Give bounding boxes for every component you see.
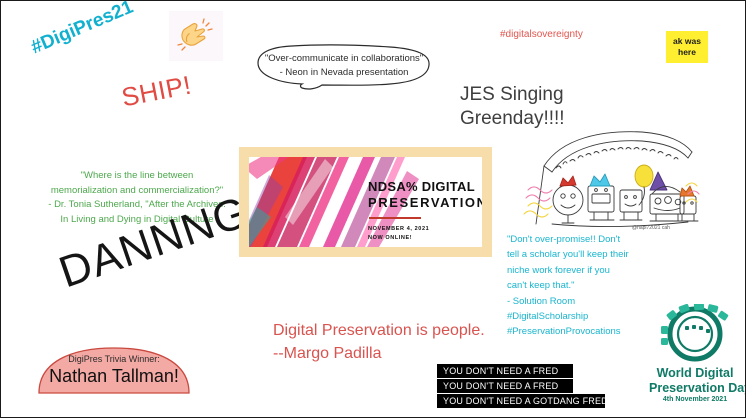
poster-date-line2: NOW ONLINE!	[368, 234, 482, 243]
sticky-text-hashtag-digipres[interactable]: #DigiPres21	[28, 0, 137, 59]
trivia-winner-name: Nathan Tallman!	[35, 366, 193, 387]
poster-text-block: NDSA% DIGITAL PRESERVATION NOVEMBER 4, 2…	[368, 179, 482, 243]
teal-quote-line7: #PreservationProvocations	[507, 324, 637, 339]
wdpd-title: World Digital Preservation Day	[649, 366, 741, 396]
jes-line2: Greenday!!!!	[460, 107, 565, 131]
teal-quote-line3: niche work forever if you	[507, 263, 637, 278]
poster-divider-rule	[369, 217, 421, 219]
ndsa-digital-preservation-poster[interactable]: NDSA% DIGITAL PRESERVATION NOVEMBER 4, 2…	[239, 147, 492, 257]
hand-drawn-celebration-sketch[interactable]: @hapi72021 cah	[522, 128, 700, 232]
sketch-signature: @hapi72021 cah	[632, 225, 670, 231]
green-quote-line1: "Where is the line between	[37, 169, 237, 184]
speech-bubble-line2: - Neon in Nevada presentation	[260, 66, 428, 80]
teal-quote-line6: #DigitalScholarship	[507, 309, 637, 324]
wdpd-title-line1: World Digital	[649, 366, 741, 381]
red-quote-line2: --Margo Padilla	[273, 342, 485, 365]
quote-solution-room[interactable]: "Don't over-promise!! Don't tell a schol…	[507, 232, 637, 340]
fred-note-1[interactable]: YOU DON'T NEED A FRED	[437, 364, 573, 378]
poster-artwork: NDSA% DIGITAL PRESERVATION NOVEMBER 4, 2…	[249, 157, 482, 247]
fred-note-2[interactable]: YOU DON'T NEED A FRED	[437, 379, 573, 393]
poster-title-line1: NDSA% DIGITAL	[368, 179, 482, 194]
wdpd-date: 4th November 2021	[649, 396, 741, 403]
teal-quote-line4: can't keep that."	[507, 278, 637, 293]
poster-date-line1: NOVEMBER 4, 2021	[368, 225, 482, 234]
quote-margo-padilla[interactable]: Digital Preservation is people. --Margo …	[273, 319, 485, 365]
sticky-text-jes-singing[interactable]: JES Singing Greenday!!!!	[460, 83, 565, 131]
speech-bubble-text: "Over-communicate in collaborations" - N…	[260, 52, 428, 80]
red-quote-line1: Digital Preservation is people.	[273, 319, 485, 342]
trivia-label: DigiPres Trivia Winner:	[35, 354, 193, 364]
fred-note-3[interactable]: YOU DON'T NEED A GOTDANG FRED	[437, 394, 605, 408]
green-quote-line2: memorialization and commercialization?"	[37, 184, 237, 199]
yellow-sticky-note[interactable]: ak was here	[666, 31, 708, 63]
sticky-text-hashtag-digitalsovereignty[interactable]: #digitalsovereignty	[500, 29, 583, 40]
sketch-drawing: @hapi72021 cah	[522, 128, 700, 232]
teal-quote-line1: "Don't over-promise!! Don't	[507, 232, 637, 247]
speech-bubble-line1: "Over-communicate in collaborations"	[260, 52, 428, 66]
speech-bubble-note[interactable]: "Over-communicate in collaborations" - N…	[250, 43, 436, 91]
trivia-winner-badge[interactable]: DigiPres Trivia Winner: Nathan Tallman!	[35, 346, 193, 394]
clapping-hands-emoji[interactable]	[169, 11, 223, 61]
clapping-hands-icon	[176, 18, 216, 54]
wdpd-title-line2: Preservation Day	[649, 381, 741, 396]
teal-quote-line5: - Solution Room	[507, 294, 637, 309]
teal-quote-line2: tell a scholar you'll keep their	[507, 247, 637, 262]
poster-title-line2: PRESERVATION	[368, 195, 482, 210]
sticky-text-ship[interactable]: SHIP!	[119, 70, 194, 114]
jes-line1: JES Singing	[460, 83, 565, 107]
wdpd-circle-mark	[649, 304, 741, 364]
whiteboard-canvas[interactable]: #DigiPres21 SHIP! "Over-communicate in c…	[0, 0, 746, 418]
world-digital-preservation-day-logo[interactable]: World Digital Preservation Day 4th Novem…	[649, 304, 741, 412]
